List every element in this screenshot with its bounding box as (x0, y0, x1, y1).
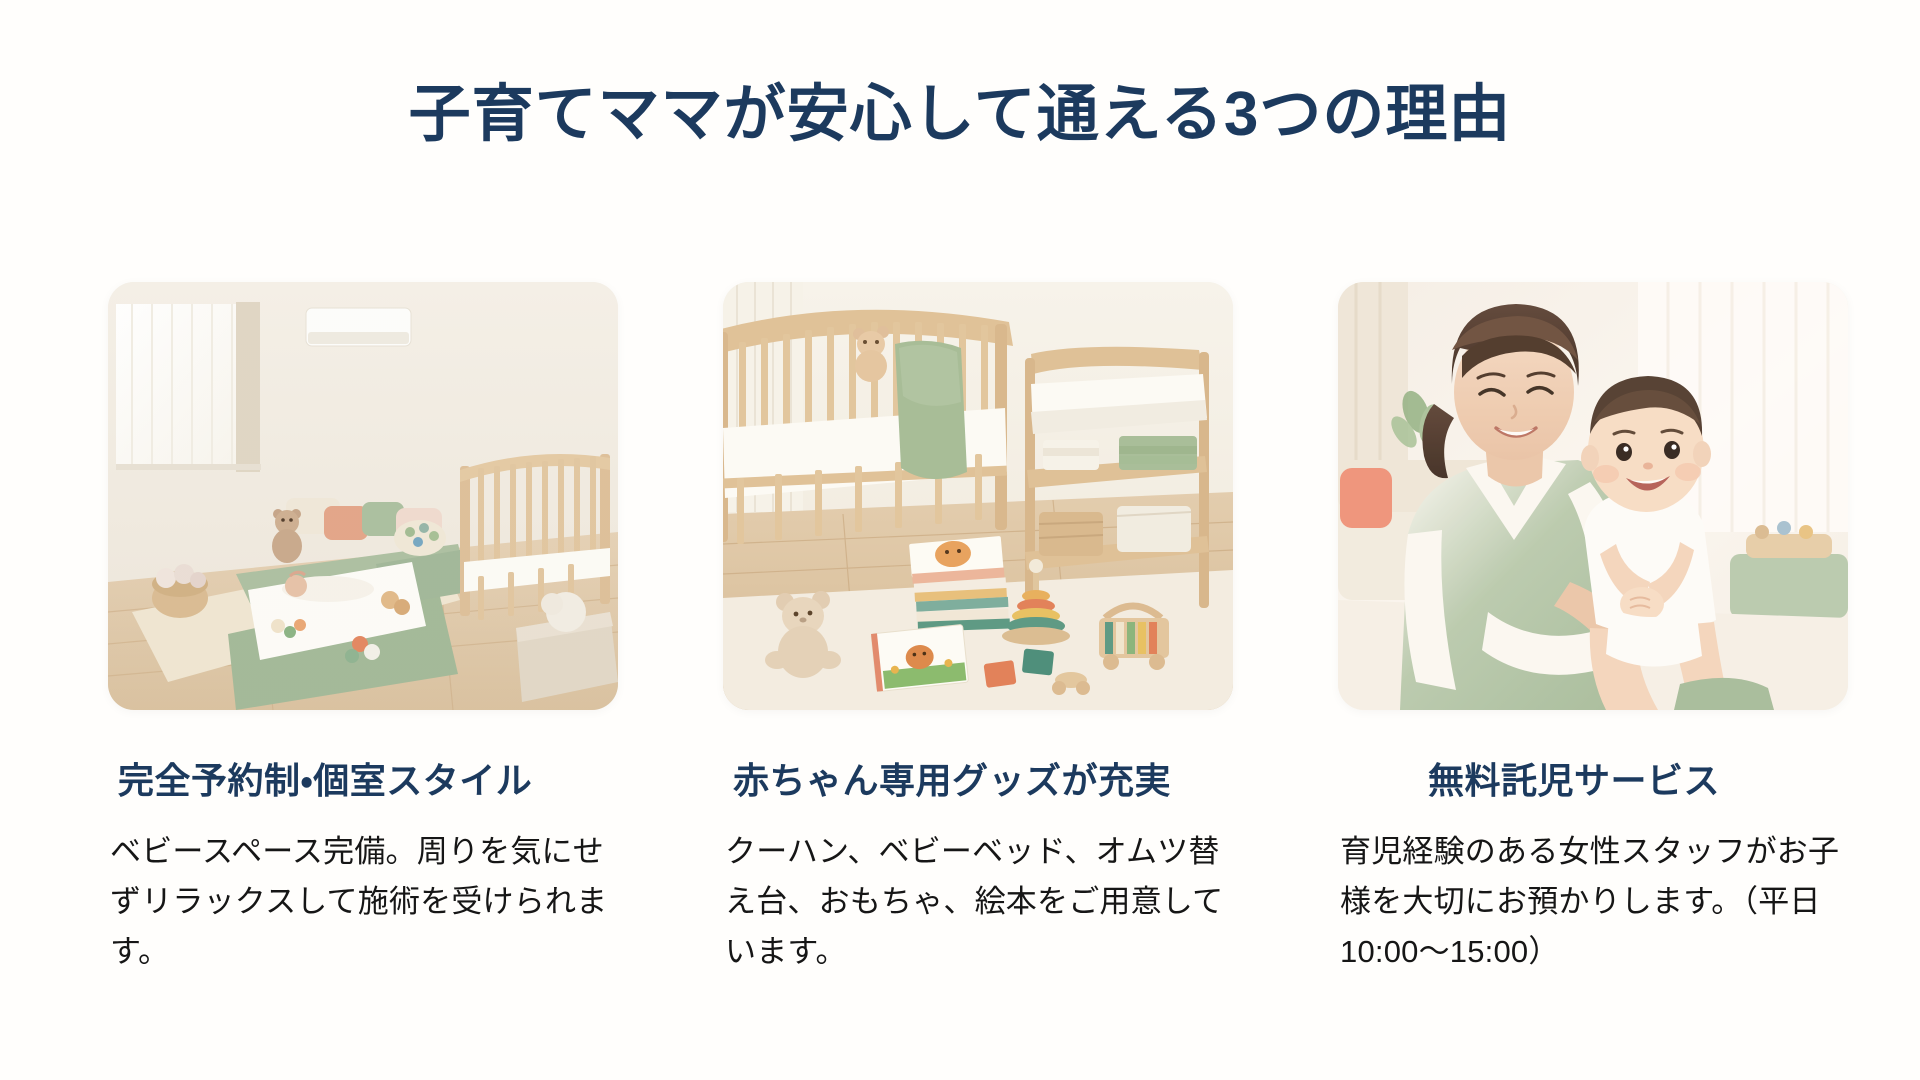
feature-card: 赤ちゃん専用グッズが充実 クーハン、ベビーベッド、オムツ替え台、おもちゃ、絵本を… (723, 282, 1233, 978)
card-body-text: クーハン、ベビーベッド、オムツ替え台、おもちゃ、絵本をご用意しています。 (723, 827, 1228, 978)
page-title: 子育てママが安心して通える3つの理由 (0, 78, 1920, 152)
card-heading: 完全予約制・個室スタイル (108, 758, 618, 803)
card-body-text: ベビースペース完備。周りを気にせずリラックスして施術を受けられます。 (108, 827, 613, 978)
card-body-text: 育児経験のある女性スタッフがお子様を大切にお預かりします。（平日10:00〜15… (1338, 827, 1843, 978)
card-heading: 赤ちゃん専用グッズが充実 (723, 758, 1233, 803)
private-room-baby-space-photo (108, 282, 618, 710)
baby-goods-nursery-photo (723, 282, 1233, 710)
card-heading: 無料託児サービス (1338, 758, 1848, 803)
feature-card: 無料託児サービス 育児経験のある女性スタッフがお子様を大切にお預かりします。（平… (1338, 282, 1848, 978)
feature-card-list: 完全予約制・個室スタイル ベビースペース完備。周りを気にせずリラックスして施術を… (108, 282, 1848, 978)
page-root: 子育てママが安心して通える3つの理由 (0, 0, 1920, 1080)
feature-card: 完全予約制・個室スタイル ベビースペース完備。周りを気にせずリラックスして施術を… (108, 282, 618, 978)
childcare-staff-with-baby-photo (1338, 282, 1848, 710)
